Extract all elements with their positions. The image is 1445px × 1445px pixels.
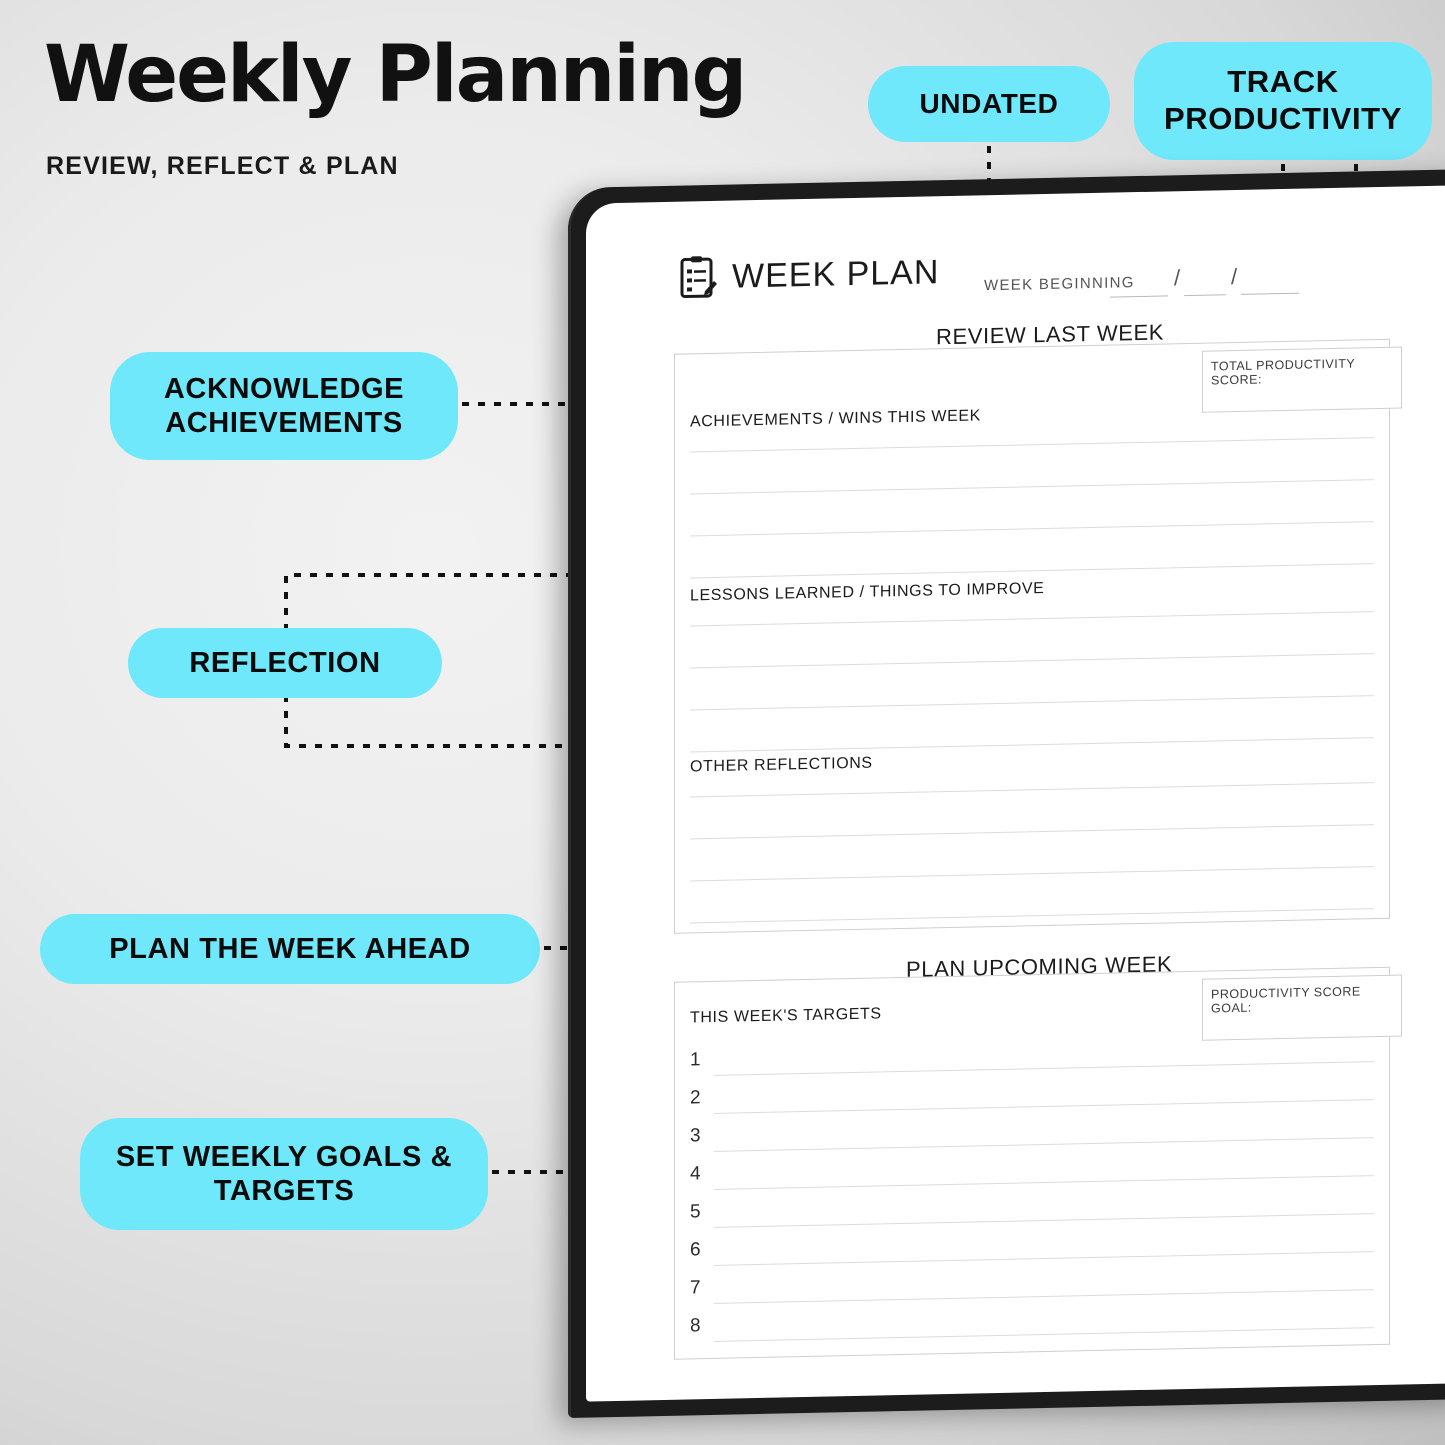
callout-plan-the-week-ahead: PLAN THE WEEK AHEAD — [40, 914, 540, 984]
target-number: 4 — [690, 1163, 701, 1185]
clipboard-pencil-icon — [680, 255, 718, 300]
tablet-device: WEEK PLAN WEEK BEGINNING / / REVIEW LAST… — [568, 169, 1445, 1418]
tablet-screen: WEEK PLAN WEEK BEGINNING / / REVIEW LAST… — [586, 185, 1445, 1401]
date-separator-2: / — [1231, 264, 1237, 290]
callout-acknowledge-achievements: ACKNOWLEDGE ACHIEVEMENTS — [110, 352, 458, 460]
productivity-score-goal-label: PRODUCTIVITY SCORE GOAL: — [1211, 984, 1361, 1015]
total-productivity-score-field[interactable]: TOTAL PRODUCTIVITY SCORE: — [1202, 347, 1402, 413]
date-field-year[interactable] — [1241, 293, 1299, 295]
page-subtitle: REVIEW, REFLECT & PLAN — [46, 152, 399, 181]
week-plan-header: WEEK PLAN — [680, 250, 939, 299]
other-reflections-label: OTHER REFLECTIONS — [690, 755, 873, 777]
target-number: 7 — [690, 1277, 701, 1299]
callout-undated: UNDATED — [868, 66, 1110, 142]
callout-set-weekly-goals: SET WEEKLY GOALS & TARGETS — [80, 1118, 488, 1230]
date-field-month[interactable] — [1184, 294, 1226, 296]
week-beginning-label: WEEK BEGINNING — [984, 274, 1135, 294]
date-field-day[interactable] — [1110, 295, 1168, 297]
target-number: 8 — [690, 1315, 701, 1337]
target-number: 2 — [690, 1087, 701, 1109]
week-plan-title: WEEK PLAN — [732, 253, 939, 296]
date-separator-1: / — [1174, 265, 1180, 291]
target-number: 1 — [690, 1049, 701, 1071]
page-title: Weekly Planning — [44, 36, 745, 114]
callout-track-productivity: TRACK PRODUCTIVITY — [1134, 42, 1432, 160]
target-number: 6 — [690, 1239, 701, 1261]
poster-canvas: Weekly Planning REVIEW, REFLECT & PLAN U… — [0, 0, 1445, 1445]
callout-reflection: REFLECTION — [128, 628, 442, 698]
target-number: 3 — [690, 1125, 701, 1147]
total-productivity-score-label: TOTAL PRODUCTIVITY SCORE: — [1211, 357, 1355, 388]
week-plan-sheet: WEEK PLAN WEEK BEGINNING / / REVIEW LAST… — [586, 185, 1445, 1401]
productivity-score-goal-field[interactable]: PRODUCTIVITY SCORE GOAL: — [1202, 975, 1402, 1041]
target-number: 5 — [690, 1201, 701, 1223]
